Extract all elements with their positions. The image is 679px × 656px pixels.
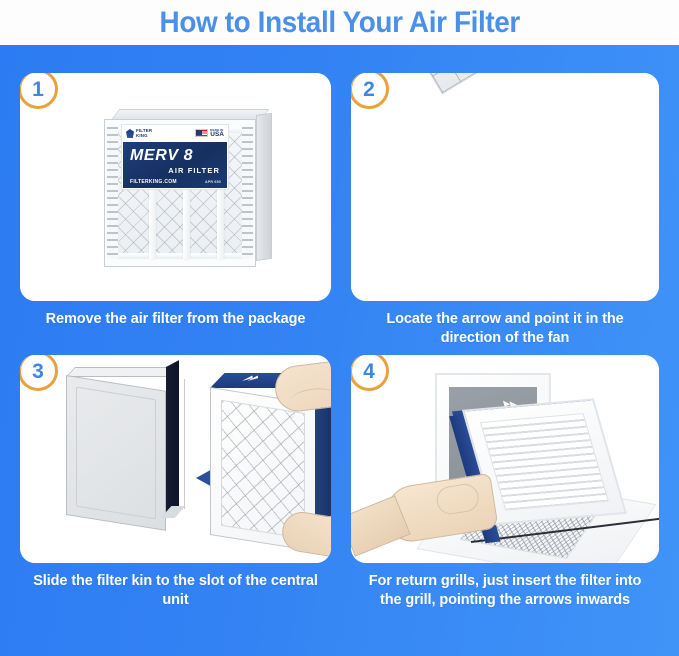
product-type: AIR FILTER	[130, 166, 220, 175]
leader-line	[184, 379, 185, 509]
step-3-image-card: 3	[20, 355, 331, 563]
filter-side-face	[256, 113, 272, 261]
merv-rating: MERV 8	[130, 148, 220, 164]
step-caption-2: Locate the arrow and point it in the dir…	[351, 310, 659, 348]
slot-top-face	[66, 367, 175, 377]
made-in-usa-badge: MADE IN USA	[195, 129, 224, 138]
usa-flag-icon	[195, 129, 208, 137]
filter-product-label: FILTER KING MADE IN	[121, 124, 229, 190]
steps-canvas: 1	[0, 45, 679, 656]
steps-grid: 1	[0, 45, 679, 656]
usa-text: MADE IN USA	[210, 129, 224, 138]
step-card-2: 2 Air Filter	[351, 73, 659, 357]
country-label: USA	[210, 131, 224, 138]
brand-text: FILTER KING	[136, 129, 152, 138]
filter-left-edge	[107, 127, 118, 259]
step-4-image-card: 4 ▶▶	[351, 355, 659, 563]
slot-opening	[166, 360, 179, 515]
filter-arrow-mark-icon: ▶▶	[240, 374, 266, 382]
filter-front-face: FILTER KING MADE IN	[104, 119, 256, 267]
label-header-row: FILTER KING MADE IN	[122, 125, 228, 142]
filter-mesh	[365, 73, 659, 94]
step-caption-4: For return grills, just insert the filte…	[351, 572, 659, 610]
filter-corner: Air Filter AIRFLOW	[369, 73, 659, 245]
filter-product-photo: FILTER KING MADE IN	[20, 73, 331, 301]
header: How to Install Your Air Filter	[0, 0, 679, 45]
grill-louvers	[480, 413, 609, 510]
slot-insert-illustration: ▶▶	[20, 355, 331, 563]
step-card-3: 3	[20, 355, 331, 647]
return-grill-illustration: ▶▶	[351, 355, 659, 563]
step-card-4: 4 ▶▶	[351, 355, 659, 647]
brand-line-2: KING	[136, 133, 148, 138]
air-filter-box: FILTER KING MADE IN	[104, 109, 272, 267]
step-2-image-card: 2 Air Filter	[351, 73, 659, 301]
label-footer-row: FILTERKING.COM APR 650	[130, 179, 221, 185]
website-text: FILTERKING.COM	[130, 179, 177, 185]
apr-rating: APR 650	[205, 180, 221, 184]
step-caption-3: Slide the filter kin to the slot of the …	[20, 572, 331, 610]
infographic-page: How to Install Your Air Filter 1	[0, 0, 679, 656]
label-body: MERV 8 AIR FILTER FILTERKING.COM APR 650	[123, 142, 227, 188]
step-card-1: 1	[20, 73, 331, 357]
filter-right-edge	[242, 127, 253, 259]
filter-king-logo: FILTER KING	[126, 129, 152, 138]
crown-icon	[126, 129, 134, 138]
page-title: How to Install Your Air Filter	[159, 8, 519, 38]
step-caption-1: Remove the air filter from the package	[20, 310, 331, 329]
hand-lower	[279, 509, 331, 561]
slot-inner-outline	[76, 387, 156, 520]
filter-corner-photo: Air Filter AIRFLOW	[351, 73, 659, 301]
slot-front-face	[66, 375, 166, 531]
central-unit-slot	[66, 367, 184, 517]
step-1-image-card: 1	[20, 73, 331, 301]
